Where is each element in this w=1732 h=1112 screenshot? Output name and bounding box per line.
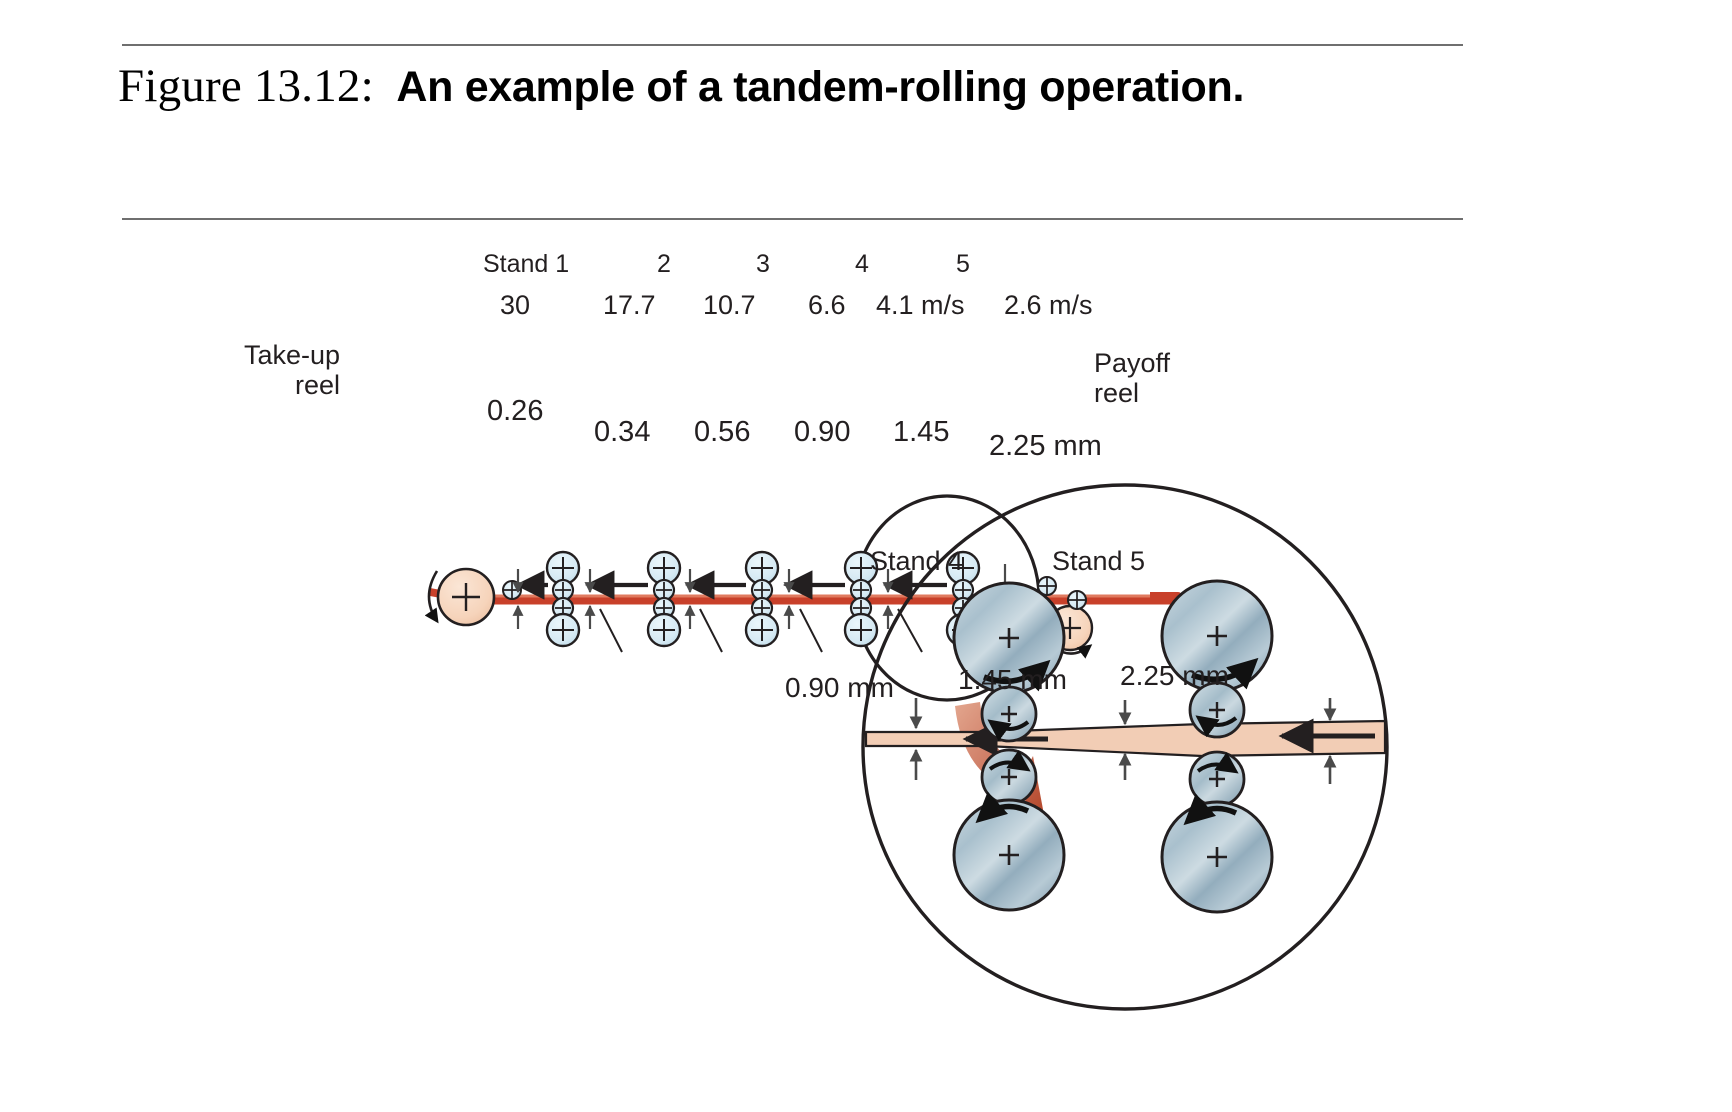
- figure-graphic: Stand 1 2 3 4 5 30 17.7 10.7 6.6 4.1 m/s…: [0, 228, 1732, 1108]
- thickness-label-1: 0.26: [487, 395, 543, 427]
- take-up-reel-label-line1: Take-up: [200, 340, 340, 370]
- detail-thickness-out-label: 2.25 mm: [1120, 660, 1229, 691]
- payoff-reel-label-line2: reel: [1094, 378, 1139, 408]
- thickness-label-6: 2.25 mm: [989, 430, 1102, 462]
- thickness-label-3: 0.56: [694, 416, 750, 448]
- divider-top: [122, 44, 1463, 46]
- stand-label-1: Stand 1: [483, 250, 569, 278]
- stand-label-3: 3: [756, 250, 770, 278]
- guide-roll-right-2: [1068, 591, 1086, 609]
- speed-label-6: 2.6 m/s: [1004, 290, 1093, 320]
- detail-stand-4-label: Stand 4: [870, 546, 963, 576]
- detail-stand-5-label: Stand 5: [1052, 546, 1145, 576]
- take-up-reel: [438, 569, 494, 625]
- speed-label-4: 6.6: [808, 290, 846, 320]
- figure-number: Figure 13.12:: [118, 60, 374, 112]
- payoff-reel-label-line1: Payoff: [1094, 348, 1170, 378]
- thickness-label-2: 0.34: [594, 416, 650, 448]
- speed-label-5: 4.1 m/s: [876, 290, 965, 320]
- stand-label-4: 4: [855, 250, 869, 278]
- detail-thickness-mid-label: 1.45 mm: [958, 664, 1067, 695]
- take-up-reel-label-line2: reel: [200, 370, 340, 400]
- figure-caption-text: An example of a tandem-rolling operation…: [396, 63, 1244, 111]
- figure-caption: Figure 13.12: An example of a tandem-rol…: [118, 56, 1478, 116]
- speed-label-2: 17.7: [603, 290, 656, 320]
- figure-page: Figure 13.12: An example of a tandem-rol…: [0, 0, 1732, 1112]
- divider-bottom: [122, 218, 1463, 220]
- stand-label-2: 2: [657, 250, 671, 278]
- speed-label-3: 10.7: [703, 290, 756, 320]
- stand-label-5: 5: [956, 250, 970, 278]
- thickness-label-4: 0.90: [794, 416, 850, 448]
- speed-label-1: 30: [500, 290, 530, 320]
- thickness-label-5: 1.45: [893, 416, 949, 448]
- detail-thickness-in-label: 0.90 mm: [785, 672, 894, 703]
